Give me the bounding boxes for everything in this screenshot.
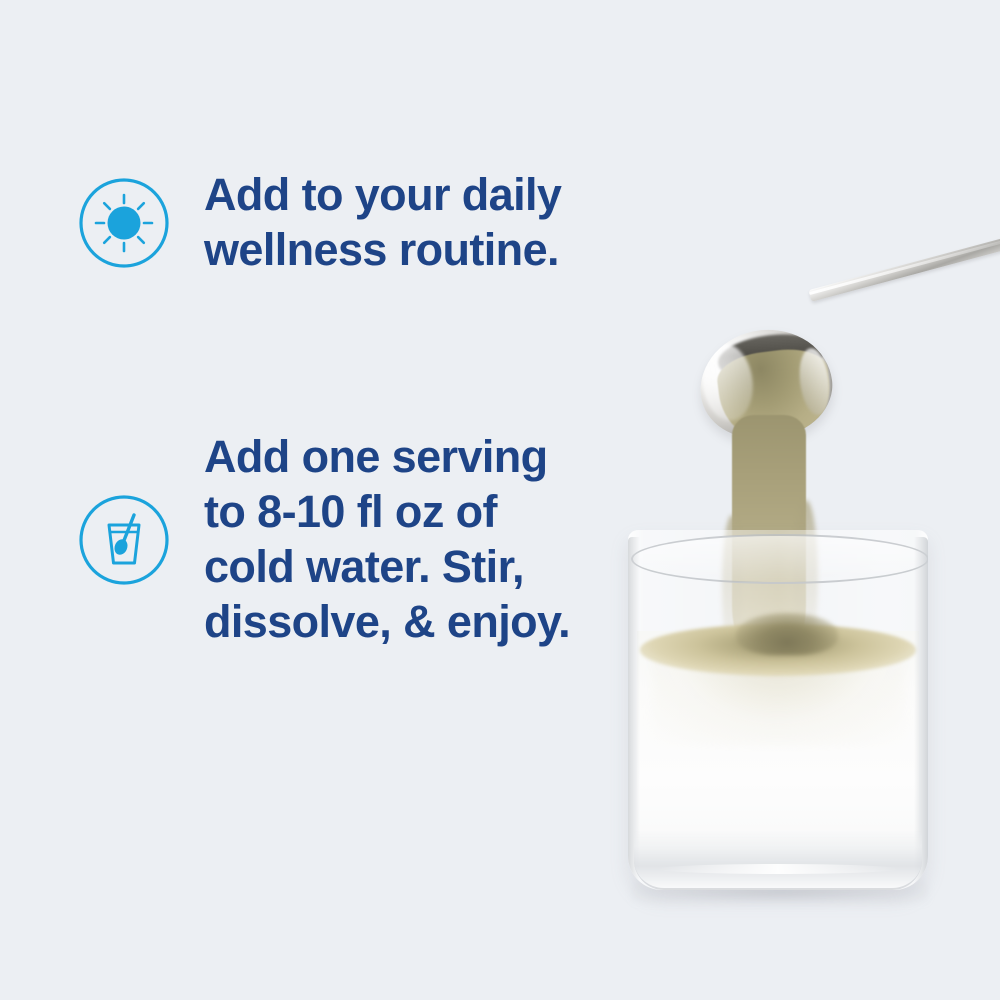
glass-rim [631,534,928,584]
instruction-daily-routine: Add to your daily wellness routine. [78,168,598,278]
powder-mound [736,613,838,655]
scoop-handle [808,236,1000,302]
glass-base-highlight [657,864,899,874]
drinking-glass [628,530,928,890]
sun-icon [78,177,170,269]
product-photo [560,230,1000,930]
glass-base [634,830,922,890]
instruction-mixing-label: Add one serving to 8-10 fl oz of cold wa… [204,430,570,650]
glass-stir-icon [78,494,170,586]
infographic-canvas: Add to your daily wellness routine. Add … [0,0,1000,1000]
instruction-daily-routine-label: Add to your daily wellness routine. [204,168,561,278]
instruction-mixing: Add one serving to 8-10 fl oz of cold wa… [78,430,598,650]
